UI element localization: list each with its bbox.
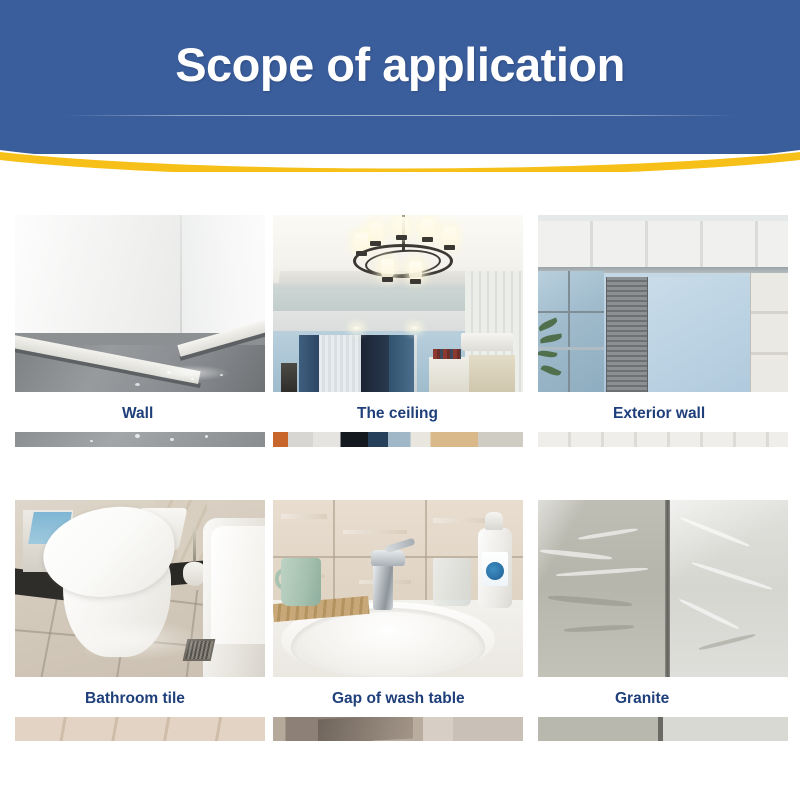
cell-label-exterior-wall: Exterior wall: [538, 405, 788, 423]
cell-label-granite: Granite: [538, 690, 788, 708]
application-grid: Wall: [0, 172, 800, 800]
photo-strip-bathroom-tile: [15, 717, 265, 741]
grid-cell-ceiling[interactable]: The ceiling: [273, 215, 523, 447]
photo-strip-exterior-wall: [538, 432, 788, 447]
cell-label-wash-table: Gap of wash table: [273, 690, 523, 708]
grid-cell-bathroom-tile[interactable]: Bathroom tile: [15, 500, 265, 741]
cell-label-ceiling: The ceiling: [273, 405, 523, 423]
photo-strip-ceiling: [273, 432, 523, 447]
header-yellow-curve: [0, 0, 800, 172]
grid-cell-exterior-wall[interactable]: Exterior wall: [538, 215, 788, 447]
photo-strip-granite: [538, 717, 788, 741]
photo-granite-stone-slabs: [538, 500, 788, 677]
photo-washbasin-sink-counter: [273, 500, 523, 677]
cell-label-bathroom-tile: Bathroom tile: [15, 690, 265, 708]
photo-living-room-ceiling-chandelier: [273, 215, 523, 392]
photo-interior-wall-corner: [15, 215, 265, 392]
grid-cell-granite[interactable]: Granite: [538, 500, 788, 741]
photo-bathroom-toilet-tile-floor: [15, 500, 265, 677]
grid-cell-wall[interactable]: Wall: [15, 215, 265, 447]
grid-cell-wash-table[interactable]: Gap of wash table: [273, 500, 523, 741]
photo-building-exterior-facade: [538, 215, 788, 392]
cell-label-wall: Wall: [15, 405, 265, 423]
header-banner: Scope of application: [0, 0, 800, 172]
chandelier-fixture: [347, 215, 459, 293]
photo-strip-wall: [15, 432, 265, 447]
photo-strip-wash-table: [273, 717, 523, 741]
